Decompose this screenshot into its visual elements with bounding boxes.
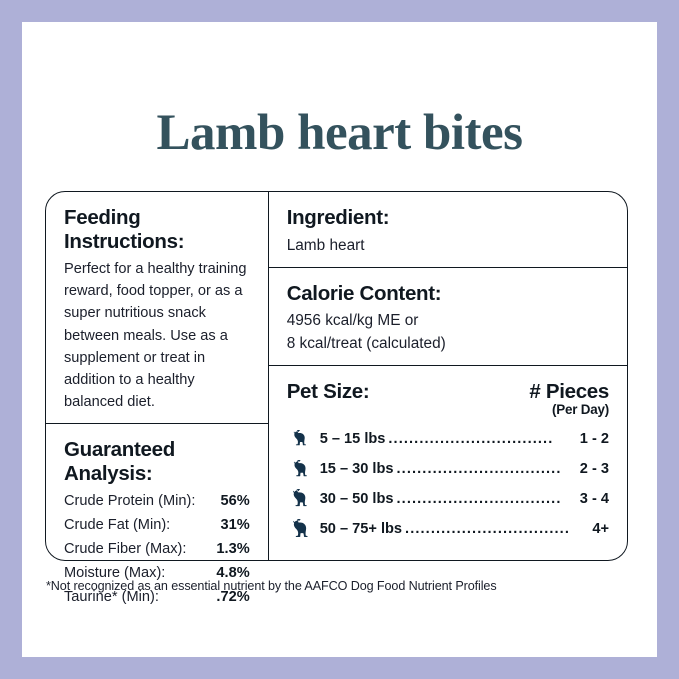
pet-pieces-value: 3 - 4 <box>573 491 609 507</box>
label-panel: Lamb heart bites Feeding Instructions: P… <box>22 22 657 657</box>
analysis-label: Crude Protein (Min): <box>64 490 195 514</box>
right-column: Ingredient: Lamb heart Calorie Content: … <box>269 192 627 560</box>
pet-size-label: 50 – 75+ lbs <box>313 521 402 537</box>
analysis-value: 31% <box>220 514 249 538</box>
feeding-instructions-heading: Feeding Instructions: <box>64 206 250 253</box>
product-title: Lamb heart bites <box>22 104 657 162</box>
dot-leader: ................................ <box>394 461 573 477</box>
analysis-label: Crude Fiber (Max): <box>64 538 186 562</box>
pieces-header-group: # Pieces (Per Day) <box>529 380 609 417</box>
feeding-instructions-section: Feeding Instructions: Perfect for a heal… <box>46 192 268 424</box>
analysis-value: 56% <box>220 490 249 514</box>
footnote: *Not recognized as an essential nutrient… <box>46 579 636 593</box>
analysis-row: Crude Fat (Min): 31% <box>64 514 250 538</box>
pieces-heading: # Pieces <box>529 380 609 404</box>
pet-pieces-value: 1 - 2 <box>573 431 609 447</box>
nutrition-panel: Feeding Instructions: Perfect for a heal… <box>45 191 628 561</box>
calorie-content-section: Calorie Content: 4956 kcal/kg ME or 8 kc… <box>269 268 627 366</box>
pet-size-row: 50 – 75+ lbs ...........................… <box>287 514 609 544</box>
pet-pieces-value: 2 - 3 <box>573 461 609 477</box>
analysis-row: Crude Fiber (Max): 1.3% <box>64 538 250 562</box>
pet-size-row: 5 – 15 lbs .............................… <box>287 424 609 454</box>
pet-size-row: 30 – 50 lbs ............................… <box>287 484 609 514</box>
ingredient-value: Lamb heart <box>287 235 609 257</box>
per-day-label: (Per Day) <box>529 402 609 417</box>
pet-size-label: 30 – 50 lbs <box>313 491 394 507</box>
pet-size-rows: 5 – 15 lbs .............................… <box>287 424 609 544</box>
pet-size-label: 5 – 15 lbs <box>313 431 386 447</box>
calorie-line-2: 8 kcal/treat (calculated) <box>287 333 609 355</box>
dot-leader: ................................ <box>402 521 573 537</box>
dog-icon <box>287 430 313 447</box>
pet-size-heading: Pet Size: <box>287 380 370 404</box>
analysis-label: Crude Fat (Min): <box>64 514 170 538</box>
pet-size-row: 15 – 30 lbs ............................… <box>287 454 609 484</box>
pet-size-section: Pet Size: # Pieces (Per Day) 5 – 15 lbs … <box>269 366 627 554</box>
dot-leader: ................................ <box>394 491 573 507</box>
feeding-instructions-text: Perfect for a healthy training reward, f… <box>64 258 250 413</box>
dog-icon <box>287 489 313 508</box>
ingredient-section: Ingredient: Lamb heart <box>269 192 627 268</box>
pet-size-label: 15 – 30 lbs <box>313 461 394 477</box>
pet-size-header: Pet Size: # Pieces (Per Day) <box>287 380 609 417</box>
dot-leader: ................................ <box>385 431 573 447</box>
dog-icon <box>287 460 313 478</box>
calorie-content-heading: Calorie Content: <box>287 282 609 306</box>
calorie-line-1: 4956 kcal/kg ME or <box>287 310 609 332</box>
ingredient-heading: Ingredient: <box>287 206 609 230</box>
analysis-row: Crude Protein (Min): 56% <box>64 490 250 514</box>
pet-pieces-value: 4+ <box>573 521 609 537</box>
analysis-value: 1.3% <box>216 538 249 562</box>
guaranteed-analysis-heading: Guaranteed Analysis: <box>64 438 250 485</box>
dog-icon <box>287 519 313 539</box>
left-column: Feeding Instructions: Perfect for a heal… <box>46 192 269 560</box>
